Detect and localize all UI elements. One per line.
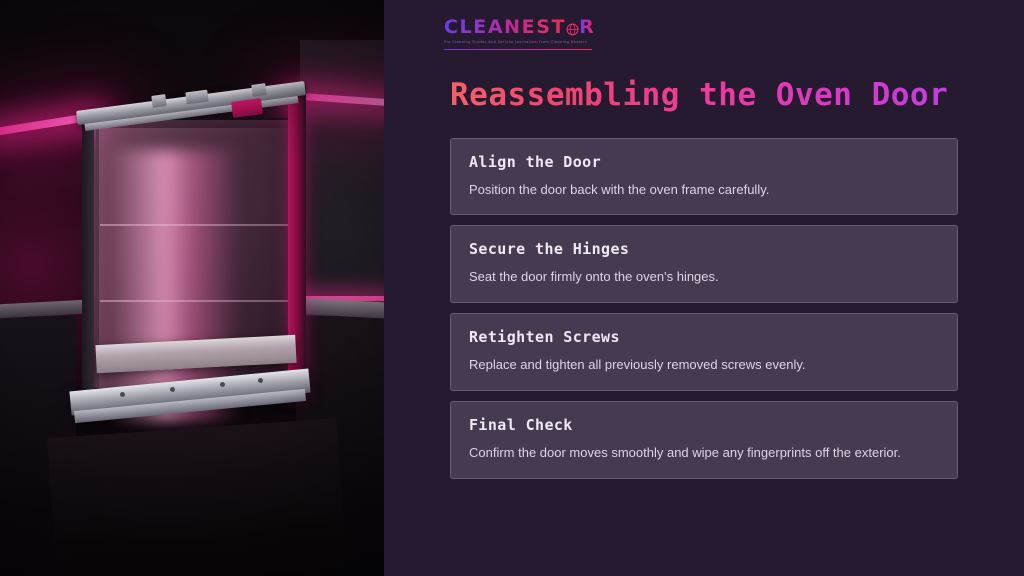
image-vignette bbox=[0, 0, 384, 576]
step-card-2[interactable]: Secure the Hinges Seat the door firmly o… bbox=[450, 225, 958, 303]
brand-logo[interactable]: CLEANEST R Pro Cleaning Guides And Servi… bbox=[444, 18, 600, 50]
step-body: Position the door back with the oven fra… bbox=[469, 180, 921, 200]
logo-wordmark-row: CLEANEST R bbox=[444, 18, 600, 37]
step-body: Seat the door firmly onto the oven's hin… bbox=[469, 267, 921, 287]
logo-wordmark-right: R bbox=[579, 18, 595, 37]
step-card-4[interactable]: Final Check Confirm the door moves smoot… bbox=[450, 401, 958, 479]
step-card-1[interactable]: Align the Door Position the door back wi… bbox=[450, 138, 958, 216]
logo-underline-rule bbox=[444, 49, 592, 51]
logo-tagline: Pro Cleaning Guides And Service Journali… bbox=[444, 41, 600, 45]
slide-root: CLEANEST R Pro Cleaning Guides And Servi… bbox=[0, 0, 1024, 576]
step-body: Replace and tighten all previously remov… bbox=[469, 355, 921, 375]
steps-list: Align the Door Position the door back wi… bbox=[450, 138, 958, 479]
step-card-3[interactable]: Retighten Screws Replace and tighten all… bbox=[450, 313, 958, 391]
step-title: Secure the Hinges bbox=[469, 240, 939, 258]
globe-icon bbox=[566, 23, 579, 36]
step-title: Retighten Screws bbox=[469, 328, 939, 346]
step-title: Final Check bbox=[469, 416, 939, 434]
hero-image-panel bbox=[0, 0, 384, 576]
step-body: Confirm the door moves smoothly and wipe… bbox=[469, 443, 921, 463]
logo-wordmark-left: CLEANEST bbox=[444, 18, 566, 37]
page-title: Reassembling the Oven Door bbox=[450, 78, 958, 114]
content-panel: CLEANEST R Pro Cleaning Guides And Servi… bbox=[384, 0, 1024, 576]
step-title: Align the Door bbox=[469, 153, 939, 171]
